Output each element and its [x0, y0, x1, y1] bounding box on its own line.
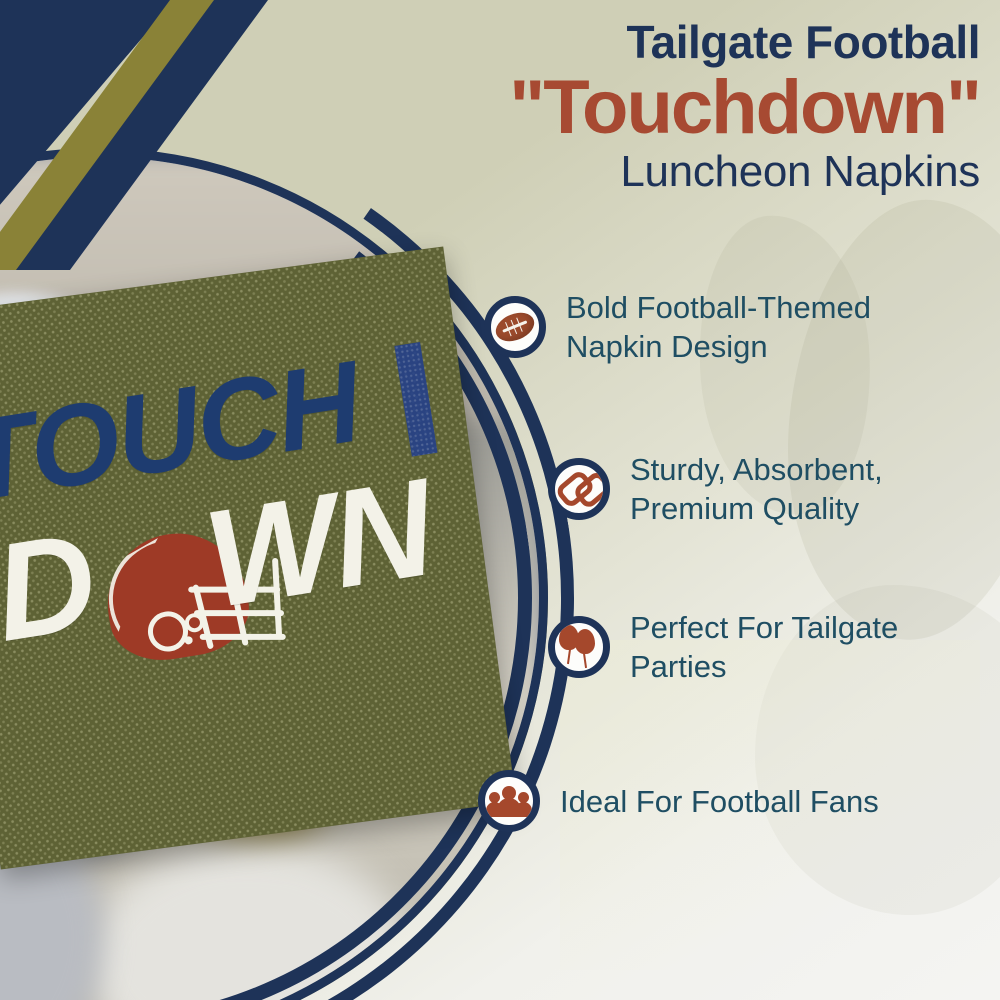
title-line-3: Luncheon Napkins — [400, 148, 980, 196]
feature-label: Ideal For Football Fans — [560, 782, 879, 821]
feature-item-ideal-for-football-fans: Ideal For Football Fans — [478, 770, 1000, 832]
feature-item-sturdy-absorbent: Sturdy, Absorbent, Premium Quality — [548, 450, 1000, 528]
page-title: Tailgate Football "Touchdown" Luncheon N… — [400, 18, 980, 196]
napkin-product: TOUCH D WN — [0, 246, 516, 869]
football-icon — [484, 296, 546, 358]
napkin-down-letter-d: D — [0, 512, 102, 663]
feature-list: Bold Football-Themed Napkin Design Sturd… — [470, 288, 1000, 832]
feature-label-line-1: Sturdy, Absorbent, — [630, 450, 883, 489]
feature-label: Sturdy, Absorbent, Premium Quality — [630, 450, 883, 528]
corner-decoration — [0, 0, 400, 270]
feature-label-line-1: Perfect For Tailgate — [630, 608, 898, 647]
feature-label: Bold Football-Themed Napkin Design — [566, 288, 871, 366]
feature-label-line-2: Parties — [630, 647, 898, 686]
title-line-1: Tailgate Football — [400, 18, 980, 68]
napkin-down-letters-wn: WN — [197, 458, 440, 629]
feature-label-line-2: Napkin Design — [566, 327, 871, 366]
people-group-icon — [478, 770, 540, 832]
product-marketing-image: TOUCH D WN Tailgate Foo — [0, 0, 1000, 1000]
balloons-icon — [548, 616, 610, 678]
feature-label-line-1: Ideal For Football Fans — [560, 782, 879, 821]
feature-label: Perfect For Tailgate Parties — [630, 608, 898, 686]
feature-item-perfect-for-tailgate: Perfect For Tailgate Parties — [548, 608, 1000, 686]
feature-label-line-2: Premium Quality — [630, 489, 883, 528]
chain-link-icon — [548, 458, 610, 520]
feature-item-bold-football-themed: Bold Football-Themed Napkin Design — [484, 288, 1000, 366]
title-line-2: "Touchdown" — [400, 70, 980, 146]
feature-label-line-1: Bold Football-Themed — [566, 288, 871, 327]
